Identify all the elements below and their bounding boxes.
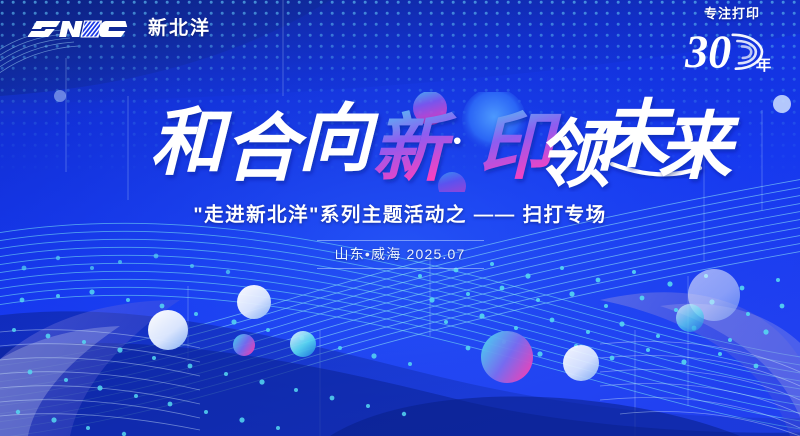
event-meta-frame: 山东•威海 2025.07: [317, 240, 484, 269]
headline-char-3: 向: [298, 99, 379, 181]
svg-text:30: 30: [684, 26, 731, 77]
svg-text:年: 年: [756, 55, 771, 74]
headline-char-5: ·: [452, 118, 462, 163]
badge-tagline: 专注打印: [682, 6, 782, 22]
brand-name-cn: 新北洋: [148, 14, 211, 44]
anniversary-badge[interactable]: 专注打印 30 年: [682, 6, 782, 84]
headline-art: 和 合 向 新 · 印 领 未 来: [0, 92, 800, 192]
badge-30-years: 30 年: [682, 23, 782, 79]
headline-char-4: 新: [372, 109, 457, 191]
brand-logo[interactable]: 新北洋: [28, 14, 211, 44]
headline-block: 和 合 向 新 · 印 领 未 来: [0, 92, 800, 192]
event-meta: 山东•威海 2025.07: [0, 240, 800, 269]
headline-char-9: 来: [658, 107, 740, 189]
event-poster: 新北洋 专注打印 30 年: [0, 0, 800, 436]
anniversary-swoosh-icon: 30 年: [682, 23, 782, 79]
snbc-logo-icon: [28, 14, 136, 44]
subtitle: "走进新北洋"系列主题活动之 —— 扫打专场: [0, 198, 800, 227]
event-location-date: 山东•威海 2025.07: [335, 244, 466, 264]
headline-char-1: 和: [150, 103, 233, 185]
headline-char-2: 合: [224, 109, 308, 191]
